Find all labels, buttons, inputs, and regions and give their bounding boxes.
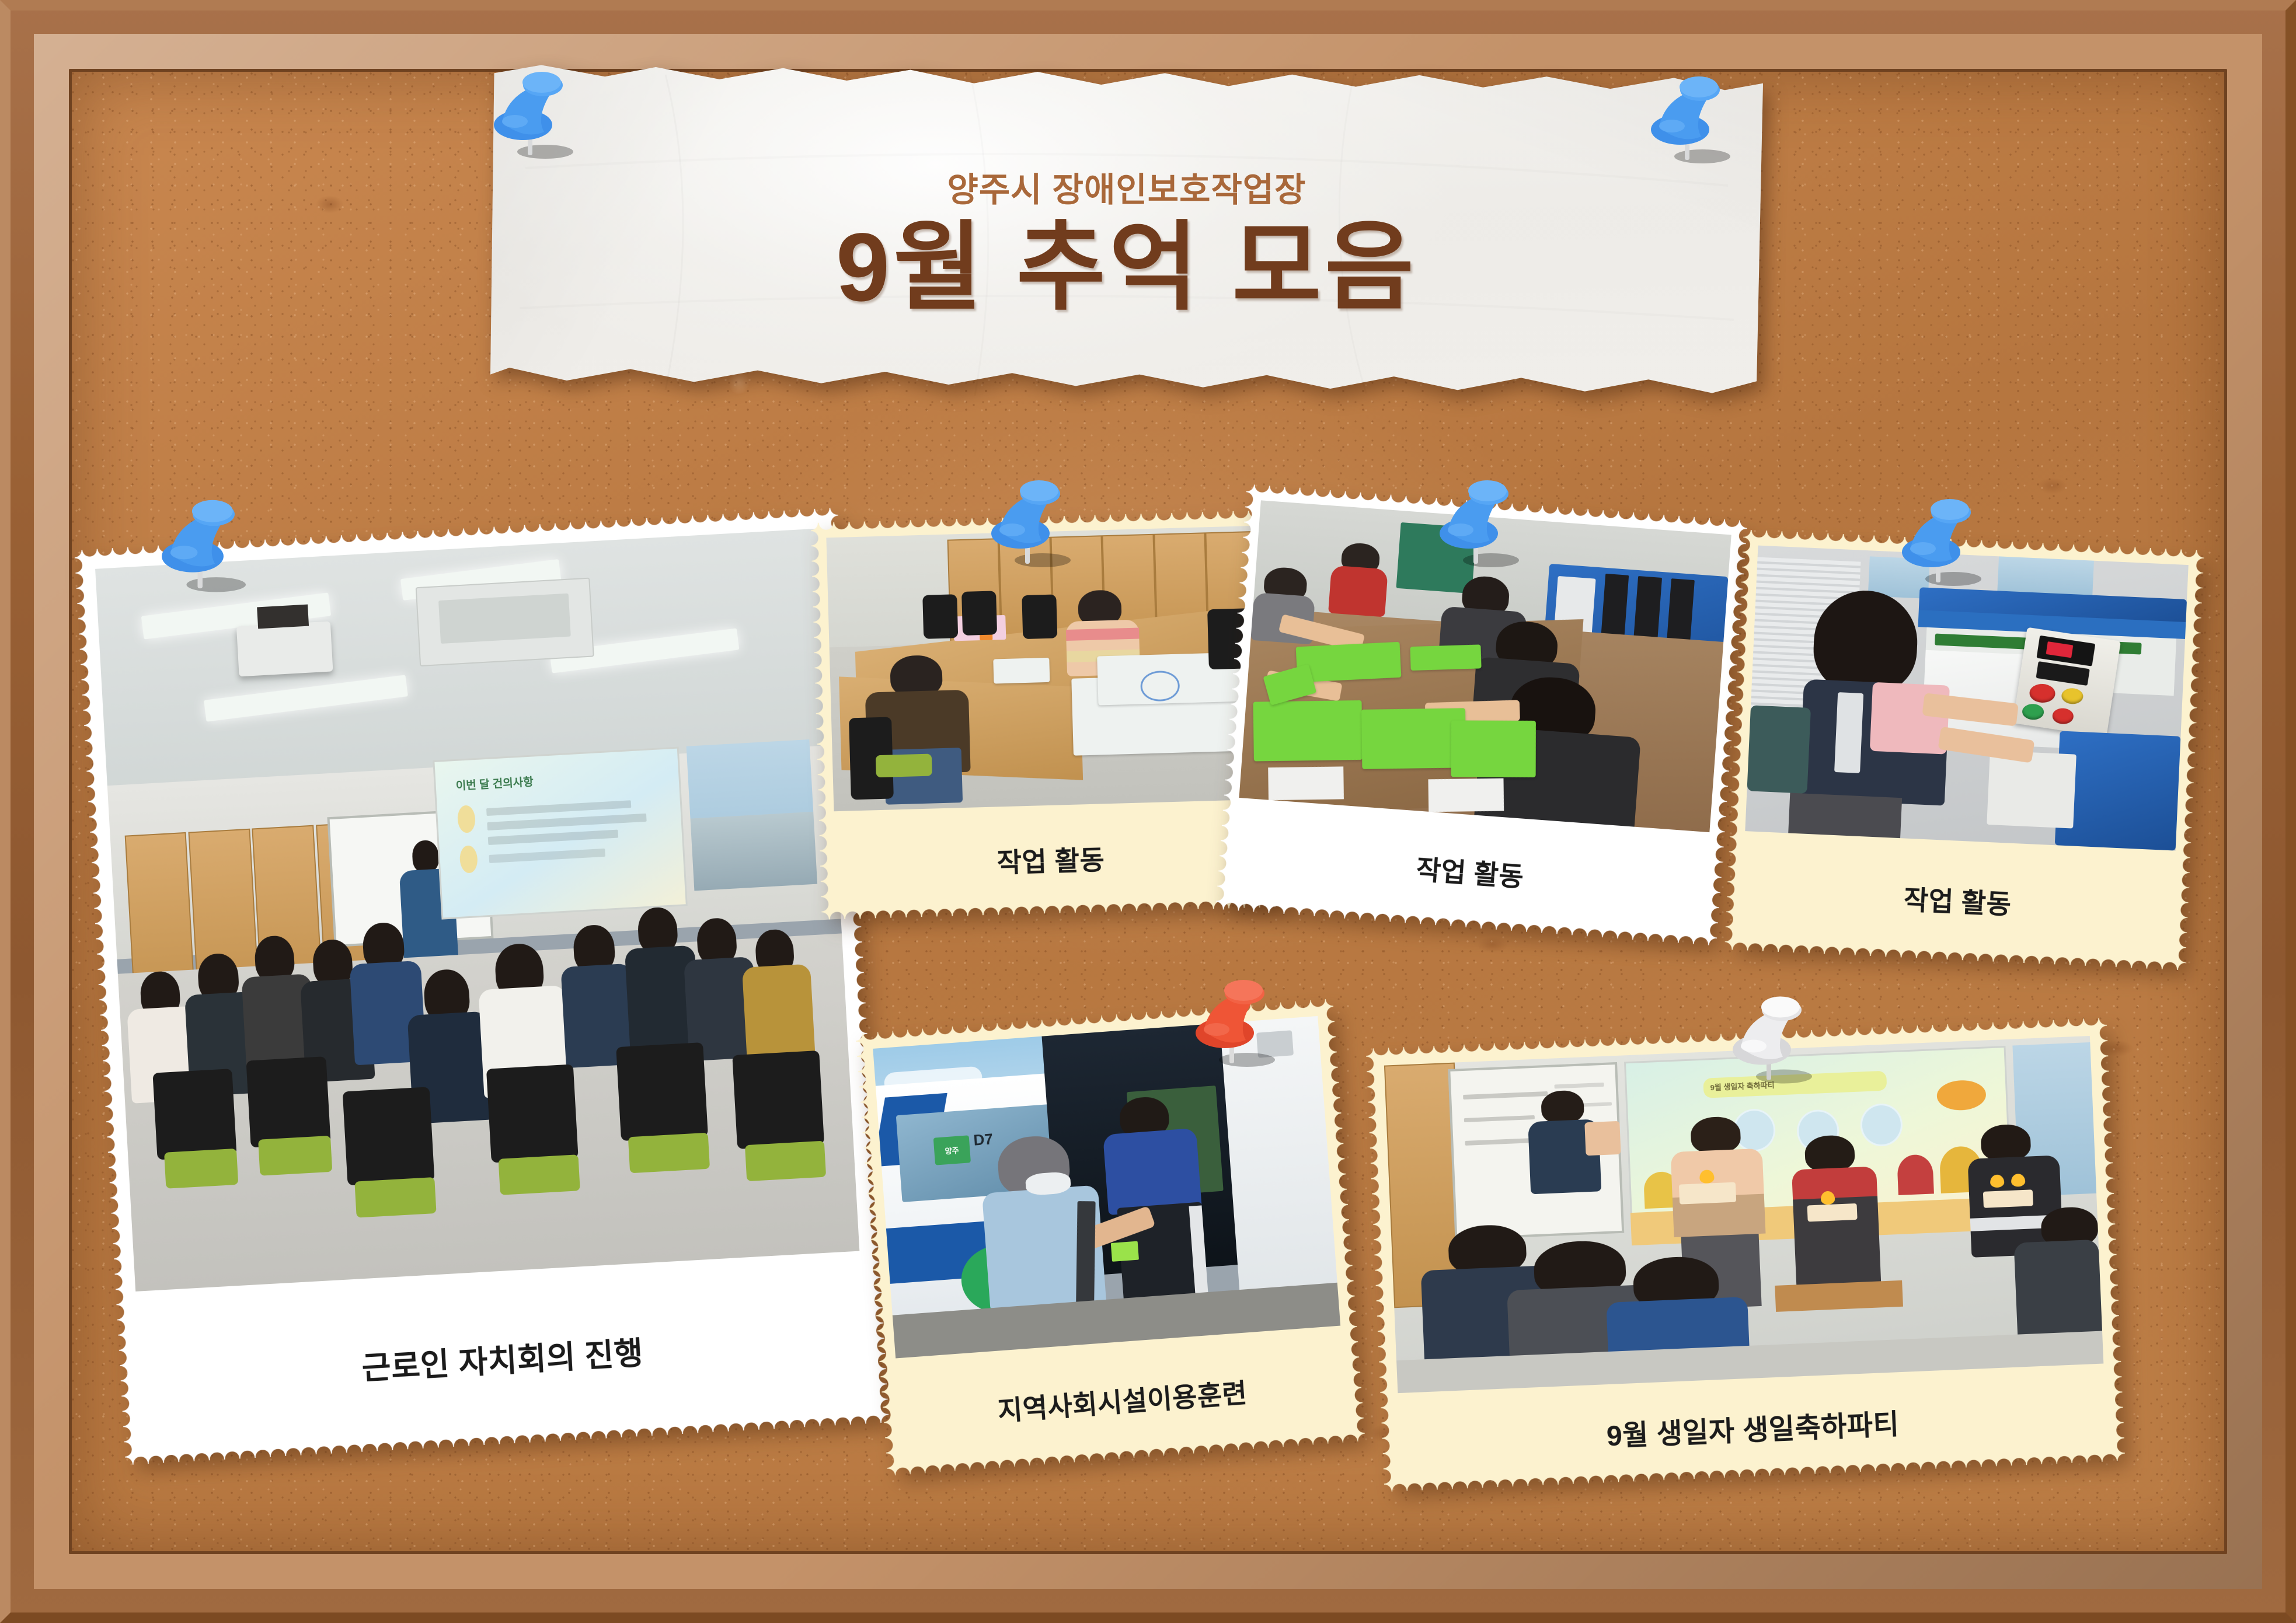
caption-work-bags-white: 작업 활동 xyxy=(818,799,1283,920)
pushpin-work-bags-green[interactable] xyxy=(1435,473,1522,572)
photo-card-community-bus[interactable]: 양주 D7 xyxy=(855,999,1365,1476)
pushpin-work-machine[interactable] xyxy=(1897,491,1985,591)
photo-card-work-machine[interactable]: 작업 활동 xyxy=(1724,529,2204,970)
header-torn-paper: 양주시 장애인보호작업장 9월 추억 모음 xyxy=(490,63,1763,402)
header-title-block: 양주시 장애인보호작업장 9월 추억 모음 xyxy=(490,63,1763,402)
pushpin-meeting[interactable] xyxy=(156,492,250,597)
photo-meeting-room: 이번 달 건의사항 xyxy=(95,529,859,1292)
bus-destination-sign: 양주 xyxy=(933,1135,970,1165)
cork-bulletin-board: 양주시 장애인보호작업장 9월 추억 모음 xyxy=(0,0,2296,1623)
photo-machine-operation xyxy=(1745,546,2188,851)
photo-card-meeting[interactable]: 이번 달 건의사항 xyxy=(74,508,889,1465)
caption-work-machine: 작업 활동 xyxy=(1724,830,2190,971)
pushpin-birthday[interactable] xyxy=(1728,987,1816,1090)
pushpin-work-bags-white[interactable] xyxy=(987,473,1074,572)
page-title: 9월 추억 모음 xyxy=(836,219,1417,316)
bus-route-number: D7 xyxy=(973,1130,994,1150)
header-subtitle: 양주시 장애인보호작업장 xyxy=(947,162,1306,211)
pushpin-header-right[interactable] xyxy=(1646,69,1734,168)
pushpin-community-bus[interactable] xyxy=(1191,972,1278,1071)
pushpin-header-left[interactable] xyxy=(489,64,577,163)
